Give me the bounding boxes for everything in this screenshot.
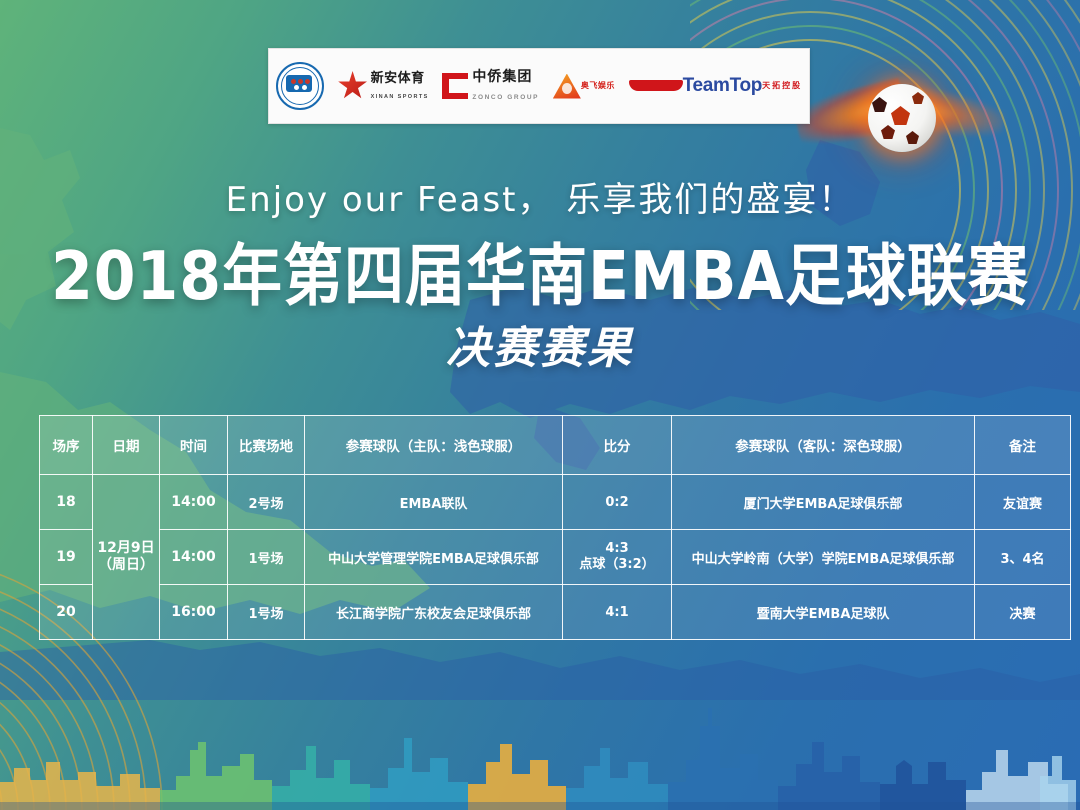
table-row: 19 14:00 1号场 中山大学管理学院EMBA足球俱乐部 4:3 点球（3:…: [40, 530, 1071, 585]
table-row: 18 12月9日 （周日） 14:00 2号场 EMBA联队 0:2 厦门大学E…: [40, 475, 1071, 530]
date-line-2: （周日）: [98, 557, 154, 573]
sponsor-league-emblem: [276, 62, 324, 110]
sponsor-zonco-en: ZONCO GROUP: [472, 94, 539, 101]
date-line-1: 12月9日: [97, 540, 154, 556]
cell-seq: 18: [40, 475, 93, 530]
flame-triangle-icon: [553, 74, 581, 99]
score-main: 4:3: [605, 541, 628, 556]
cell-time: 14:00: [160, 530, 228, 585]
header-note: 备注: [975, 416, 1071, 475]
cell-note: 决赛: [975, 585, 1071, 640]
header-score: 比分: [563, 416, 672, 475]
header-home-team: 参赛球队（主队：浅色球服）: [305, 416, 563, 475]
sponsor-teamtop-cn: 天拓控股: [762, 82, 802, 91]
header-time: 时间: [160, 416, 228, 475]
cell-seq: 20: [40, 585, 93, 640]
score-penalty: 点球（3:2）: [579, 557, 654, 572]
sponsor-alpha-entertainment: 奥飞娱乐: [553, 74, 615, 99]
cell-note: 3、4名: [975, 530, 1071, 585]
cell-score: 4:1: [563, 585, 672, 640]
match-results-table: 场序 日期 时间 比赛场地 参赛球队（主队：浅色球服） 比分 参赛球队（客队：深…: [39, 415, 1042, 640]
cell-venue: 1号场: [228, 530, 305, 585]
cell-note: 友谊赛: [975, 475, 1071, 530]
sponsor-teamtop-en: TeamTop: [683, 76, 763, 97]
sponsor-zonco-cn: 中侨集团: [472, 68, 532, 84]
cell-score: 4:3 点球（3:2）: [563, 530, 672, 585]
header-venue: 比赛场地: [228, 416, 305, 475]
sponsor-xinan-en: XINAN SPORTS: [371, 94, 429, 100]
cell-away-team: 中山大学岭南（大学）学院EMBA足球俱乐部: [672, 530, 975, 585]
city-skyline: [0, 650, 1080, 810]
cell-away-team: 暨南大学EMBA足球队: [672, 585, 975, 640]
page-title: 2018年第四届华南EMBA足球联赛: [0, 222, 1080, 319]
sponsor-logo-bar: 新安体育 XINAN SPORTS 中侨集团 ZONCO GROUP 奥飞娱乐 …: [268, 48, 810, 124]
cell-score: 0:2: [563, 475, 672, 530]
sponsor-xinan-cn: 新安体育: [371, 70, 425, 85]
cell-home-team: EMBA联队: [305, 475, 563, 530]
cell-seq: 19: [40, 530, 93, 585]
sponsor-xinan-sports: 新安体育 XINAN SPORTS: [338, 70, 429, 102]
tagline: Enjoy our Feast， 乐享我们的盛宴！: [0, 172, 1080, 221]
cell-home-team: 长江商学院广东校友会足球俱乐部: [305, 585, 563, 640]
sponsor-alpha-cn: 奥飞娱乐: [581, 82, 615, 91]
cell-date: 12月9日 （周日）: [93, 475, 160, 640]
header-seq: 场序: [40, 416, 93, 475]
sponsor-teamtop: TeamTop 天拓控股: [629, 76, 803, 97]
football-icon: [868, 84, 936, 152]
league-emblem-icon: [276, 62, 324, 110]
cell-venue: 2号场: [228, 475, 305, 530]
flaming-football: [862, 78, 942, 158]
sponsor-zonco-group: 中侨集团 ZONCO GROUP: [442, 68, 539, 105]
cell-time: 16:00: [160, 585, 228, 640]
cell-venue: 1号场: [228, 585, 305, 640]
header-away-team: 参赛球队（客队：深色球服）: [672, 416, 975, 475]
teamtop-arch-icon: [629, 80, 683, 91]
cell-away-team: 厦门大学EMBA足球俱乐部: [672, 475, 975, 530]
cell-home-team: 中山大学管理学院EMBA足球俱乐部: [305, 530, 563, 585]
page-subtitle: 决赛赛果: [0, 312, 1080, 376]
cell-time: 14:00: [160, 475, 228, 530]
star-icon: [338, 71, 368, 101]
poster-root: 新安体育 XINAN SPORTS 中侨集团 ZONCO GROUP 奥飞娱乐 …: [0, 0, 1080, 810]
flame-trail-right: [905, 86, 1007, 144]
zonco-mark-icon: [442, 73, 468, 99]
table-header-row: 场序 日期 时间 比赛场地 参赛球队（主队：浅色球服） 比分 参赛球队（客队：深…: [40, 416, 1071, 475]
header-date: 日期: [93, 416, 160, 475]
table-row: 20 16:00 1号场 长江商学院广东校友会足球俱乐部 4:1 暨南大学EMB…: [40, 585, 1071, 640]
